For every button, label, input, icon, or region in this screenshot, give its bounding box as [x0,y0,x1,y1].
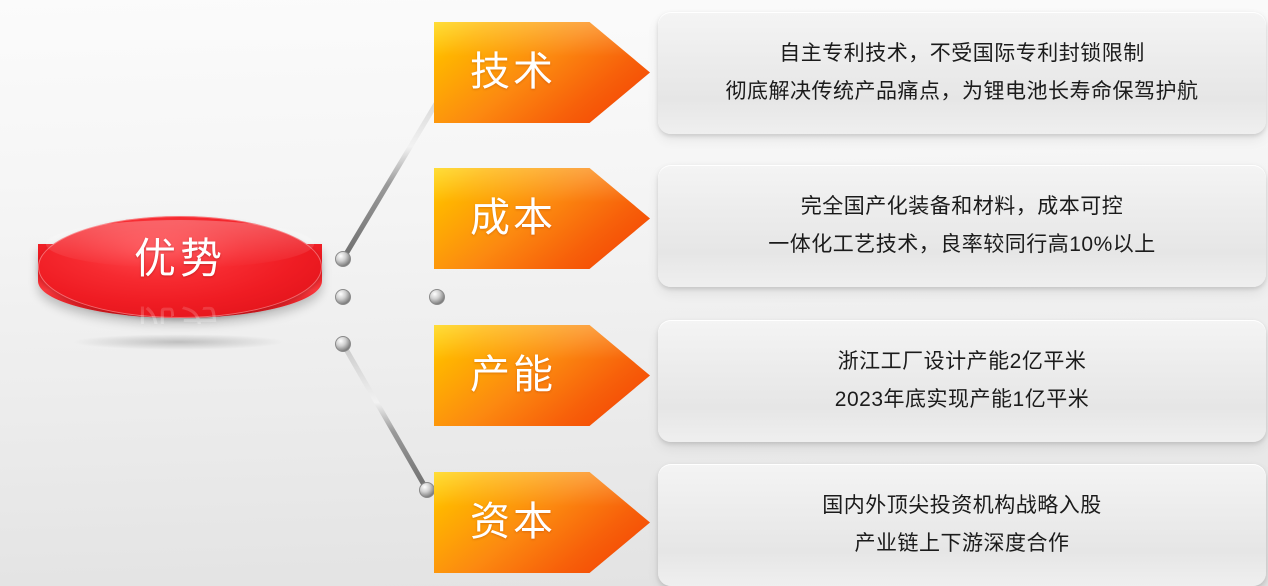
card-cost: 完全国产化装备和材料，成本可控 一体化工艺技术，良率较同行高10%以上 [658,165,1266,287]
chevron-label: 资本 [434,472,592,573]
chevron-capacity[interactable]: 产能 [434,325,650,426]
card-line: 完全国产化装备和材料，成本可控 [801,188,1124,226]
card-line: 2023年底实现产能1亿平米 [835,381,1089,419]
chevron-label: 技术 [434,22,592,123]
chevron-technology[interactable]: 技术 [434,22,650,123]
diagram-canvas: 优势 优势 [0,0,1268,586]
card-line: 浙江工厂设计产能2亿平米 [838,343,1087,381]
card-capital: 国内外顶尖投资机构战略入股 产业链上下游深度合作 [658,464,1266,586]
connector-cost [336,290,445,305]
card-capacity: 浙江工厂设计产能2亿平米 2023年底实现产能1亿平米 [658,320,1266,442]
chevron-label: 成本 [434,168,592,269]
card-line: 彻底解决传统产品痛点，为锂电池长寿命保驾护航 [726,73,1199,111]
card-line: 自主专利技术，不受国际专利封锁限制 [779,35,1145,73]
card-line: 国内外顶尖投资机构战略入股 [822,487,1102,525]
chevron-cost[interactable]: 成本 [434,168,650,269]
connector-capacity-capital [336,337,435,498]
card-technology: 自主专利技术，不受国际专利封锁限制 彻底解决传统产品痛点，为锂电池长寿命保驾护航 [658,12,1266,134]
card-line: 一体化工艺技术，良率较同行高10%以上 [768,226,1156,264]
card-line: 产业链上下游深度合作 [855,525,1070,563]
chevron-capital[interactable]: 资本 [434,472,650,573]
chevron-label: 产能 [434,325,592,426]
